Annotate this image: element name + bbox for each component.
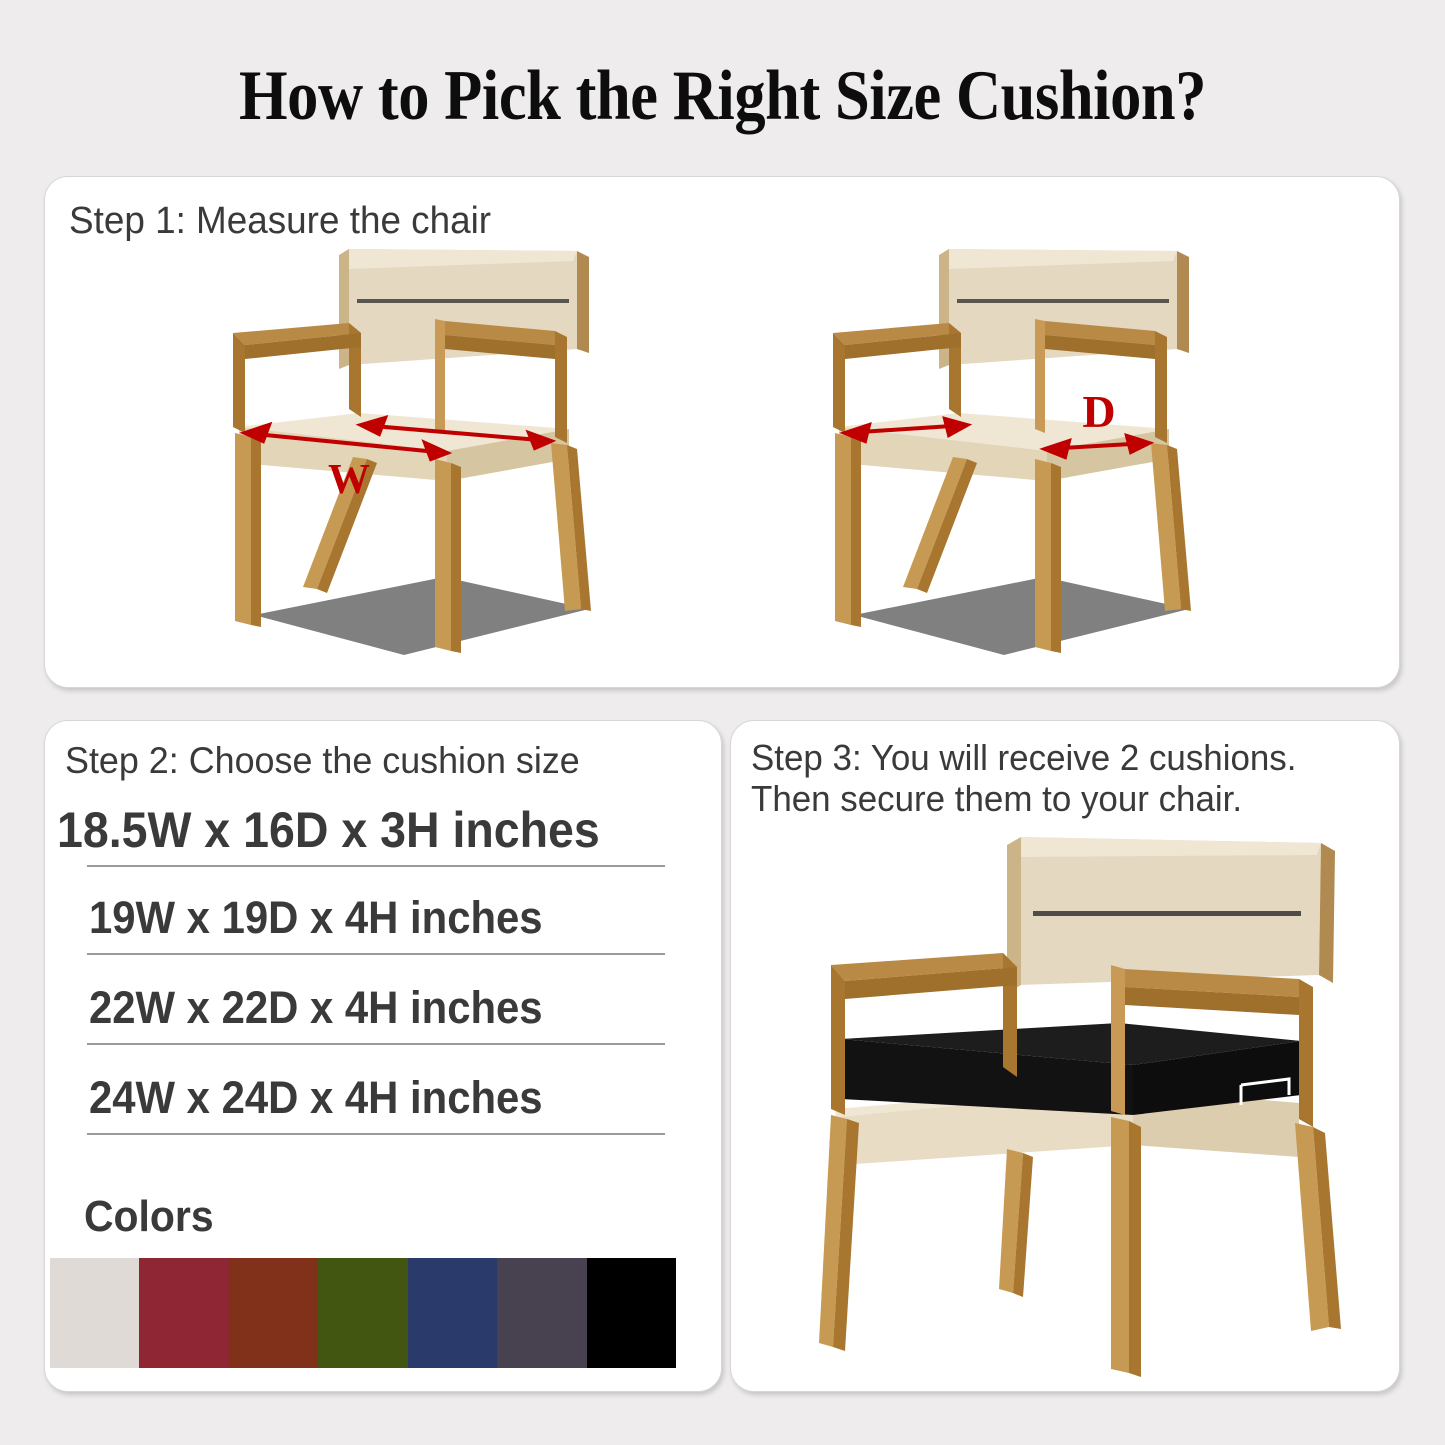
color-swatch-olive[interactable] [318, 1258, 407, 1368]
size-option-label: 18.5W x 16D x 3H inches [57, 799, 676, 861]
divider [87, 953, 665, 955]
size-option-label: 22W x 22D x 4H inches [89, 979, 679, 1037]
color-swatch-crimson[interactable] [139, 1258, 228, 1368]
step-2-heading: Step 2: Choose the cushion size [65, 739, 580, 783]
color-swatch-bar [50, 1258, 676, 1368]
size-option-label: 19W x 19D x 4H inches [89, 889, 679, 947]
cushion-size-list: 18.5W x 16D x 3H inches 19W x 19D x 4H i… [45, 799, 722, 1135]
size-option[interactable]: 24W x 24D x 4H inches [45, 1069, 722, 1135]
divider [87, 1043, 665, 1045]
divider [87, 865, 665, 867]
page-title: How to Pick the Right Size Cushion? [87, 56, 1359, 136]
chair-with-cushion-illustration [789, 827, 1369, 1392]
step-3-heading-line-1: Step 3: You will receive 2 cushions. [751, 737, 1296, 778]
divider [87, 1133, 665, 1135]
color-swatch-charcoal[interactable] [497, 1258, 586, 1368]
color-swatch-black[interactable] [587, 1258, 676, 1368]
step-3-card: Step 3: You will receive 2 cushions.Then… [730, 720, 1400, 1392]
w-dimension-letter: W [328, 457, 370, 503]
step-3-heading-line-2: Then secure them to your chair. [751, 778, 1242, 819]
color-swatch-navy[interactable] [408, 1258, 497, 1368]
size-option-label: 24W x 24D x 4H inches [89, 1069, 679, 1127]
step-1-card: Step 1: Measure the chair [44, 176, 1400, 688]
step-3-heading: Step 3: You will receive 2 cushions.Then… [751, 737, 1296, 819]
color-swatch-rust[interactable] [229, 1258, 318, 1368]
d-dimension-letter: D [1082, 386, 1115, 437]
chair-width-illustration: W [199, 237, 629, 667]
size-option[interactable]: 19W x 19D x 4H inches [45, 889, 722, 955]
color-swatch-beige[interactable] [50, 1258, 139, 1368]
colors-label: Colors [84, 1191, 214, 1243]
size-option[interactable]: 18.5W x 16D x 3H inches [45, 799, 722, 867]
chair-depth-illustration: D [799, 237, 1229, 667]
size-option[interactable]: 22W x 22D x 4H inches [45, 979, 722, 1045]
